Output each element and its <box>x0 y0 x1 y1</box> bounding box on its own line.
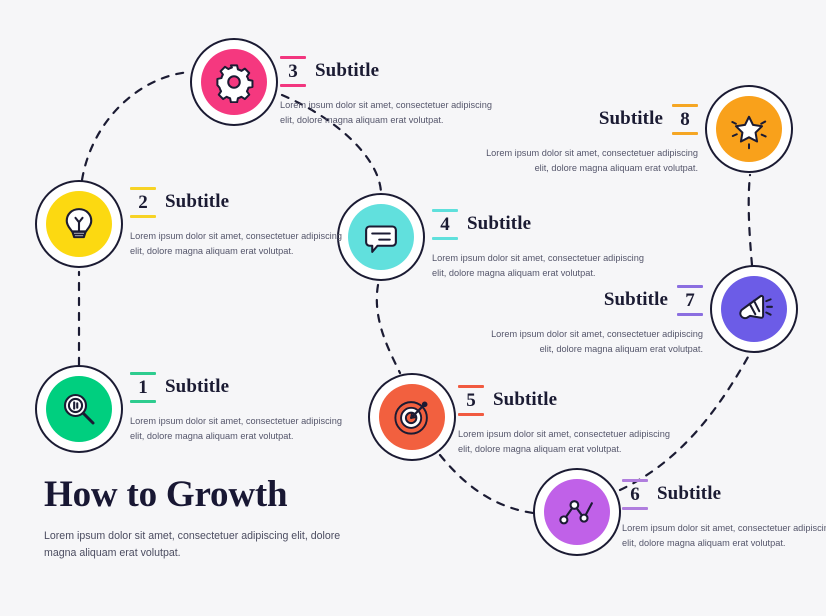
title-area: How to Growth Lorem ipsum dolor sit amet… <box>44 475 374 562</box>
accent-rule-bottom-4 <box>432 237 458 240</box>
step-head-7: Subtitle 7 <box>488 281 703 320</box>
step-number-1: 1 <box>138 375 148 401</box>
step-number-5: 5 <box>466 388 476 414</box>
step-number-wrap-5: 5 <box>458 381 484 420</box>
step-node-6[interactable] <box>533 468 621 556</box>
step-number-7: 7 <box>685 288 695 314</box>
chat-bubble-icon <box>360 216 402 258</box>
step-body-7: Lorem ipsum dolor sit amet, consectetuer… <box>488 327 703 357</box>
step-body-8: Lorem ipsum dolor sit amet, consectetuer… <box>483 146 698 176</box>
step-head-3: 3 Subtitle <box>280 52 495 91</box>
accent-rule-bottom-2 <box>130 215 156 218</box>
accent-rule-bottom-5 <box>458 413 484 416</box>
step-head-5: 5 Subtitle <box>458 381 673 420</box>
step-disc-3 <box>201 49 267 115</box>
step-body-2: Lorem ipsum dolor sit amet, consectetuer… <box>130 229 345 259</box>
step-body-6: Lorem ipsum dolor sit amet, consectetuer… <box>622 521 826 551</box>
step-number-wrap-7: 7 <box>677 281 703 320</box>
step-node-5[interactable] <box>368 373 456 461</box>
accent-rule-bottom-1 <box>130 400 156 403</box>
infographic-canvas: 1 Subtitle Lorem ipsum dolor sit amet, c… <box>0 0 826 616</box>
lightbulb-icon <box>58 203 100 245</box>
step-subtitle-6: Subtitle <box>657 483 721 505</box>
line-chart-icon <box>556 491 598 533</box>
step-number-3: 3 <box>288 59 298 85</box>
connector-7-to-8 <box>749 175 752 265</box>
step-disc-4 <box>348 204 414 270</box>
page-title: How to Growth <box>44 475 374 516</box>
step-number-wrap-3: 3 <box>280 52 306 91</box>
step-head-1: 1 Subtitle <box>130 368 345 407</box>
step-number-8: 8 <box>680 107 690 133</box>
connector-4-to-5 <box>377 285 400 373</box>
step-node-1[interactable] <box>35 365 123 453</box>
step-number-wrap-4: 4 <box>432 205 458 244</box>
step-block-1: 1 Subtitle Lorem ipsum dolor sit amet, c… <box>130 368 345 453</box>
step-body-1: Lorem ipsum dolor sit amet, consectetuer… <box>130 414 345 444</box>
step-subtitle-4: Subtitle <box>467 213 531 235</box>
step-disc-6 <box>544 479 610 545</box>
step-disc-8 <box>716 96 782 162</box>
step-node-2[interactable] <box>35 180 123 268</box>
step-body-5: Lorem ipsum dolor sit amet, consectetuer… <box>458 427 673 457</box>
megaphone-icon <box>733 288 775 330</box>
step-head-4: 4 Subtitle <box>432 205 647 244</box>
step-subtitle-8: Subtitle <box>599 108 663 130</box>
target-icon <box>391 396 433 438</box>
step-block-2: 2 Subtitle Lorem ipsum dolor sit amet, c… <box>130 183 345 268</box>
accent-rule-bottom-8 <box>672 132 698 135</box>
step-node-4[interactable] <box>337 193 425 281</box>
step-block-4: 4 Subtitle Lorem ipsum dolor sit amet, c… <box>432 205 647 290</box>
step-subtitle-5: Subtitle <box>493 389 557 411</box>
step-subtitle-3: Subtitle <box>315 60 379 82</box>
step-head-8: Subtitle 8 <box>483 100 698 139</box>
step-disc-1 <box>46 376 112 442</box>
step-body-3: Lorem ipsum dolor sit amet, consectetuer… <box>280 98 495 128</box>
gear-icon <box>213 61 255 103</box>
step-block-3: 3 Subtitle Lorem ipsum dolor sit amet, c… <box>280 52 495 137</box>
step-number-wrap-8: 8 <box>672 100 698 139</box>
step-number-wrap-1: 1 <box>130 368 156 407</box>
accent-rule-bottom-3 <box>280 84 306 87</box>
star-icon <box>728 108 770 150</box>
step-number-wrap-6: 6 <box>622 475 648 514</box>
accent-rule-bottom-7 <box>677 313 703 316</box>
magnifier-icon <box>58 388 100 430</box>
step-number-6: 6 <box>630 482 640 508</box>
step-head-6: 6 Subtitle <box>622 475 826 514</box>
step-body-4: Lorem ipsum dolor sit amet, consectetuer… <box>432 251 647 281</box>
accent-rule-bottom-6 <box>622 507 648 510</box>
step-subtitle-1: Subtitle <box>165 376 229 398</box>
step-disc-7 <box>721 276 787 342</box>
step-block-8: Subtitle 8 Lorem ipsum dolor sit amet, c… <box>483 100 698 185</box>
step-node-3[interactable] <box>190 38 278 126</box>
step-node-7[interactable] <box>710 265 798 353</box>
step-subtitle-7: Subtitle <box>604 289 668 311</box>
step-disc-5 <box>379 384 445 450</box>
step-number-4: 4 <box>440 212 450 238</box>
step-number-wrap-2: 2 <box>130 183 156 222</box>
step-node-8[interactable] <box>705 85 793 173</box>
connector-2-to-3 <box>82 72 190 180</box>
step-subtitle-2: Subtitle <box>165 191 229 213</box>
step-block-6: 6 Subtitle Lorem ipsum dolor sit amet, c… <box>622 475 826 560</box>
step-head-2: 2 Subtitle <box>130 183 345 222</box>
step-block-7: Subtitle 7 Lorem ipsum dolor sit amet, c… <box>488 281 703 366</box>
step-number-2: 2 <box>138 190 148 216</box>
step-block-5: 5 Subtitle Lorem ipsum dolor sit amet, c… <box>458 381 673 466</box>
step-disc-2 <box>46 191 112 257</box>
page-description: Lorem ipsum dolor sit amet, consectetuer… <box>44 528 374 562</box>
